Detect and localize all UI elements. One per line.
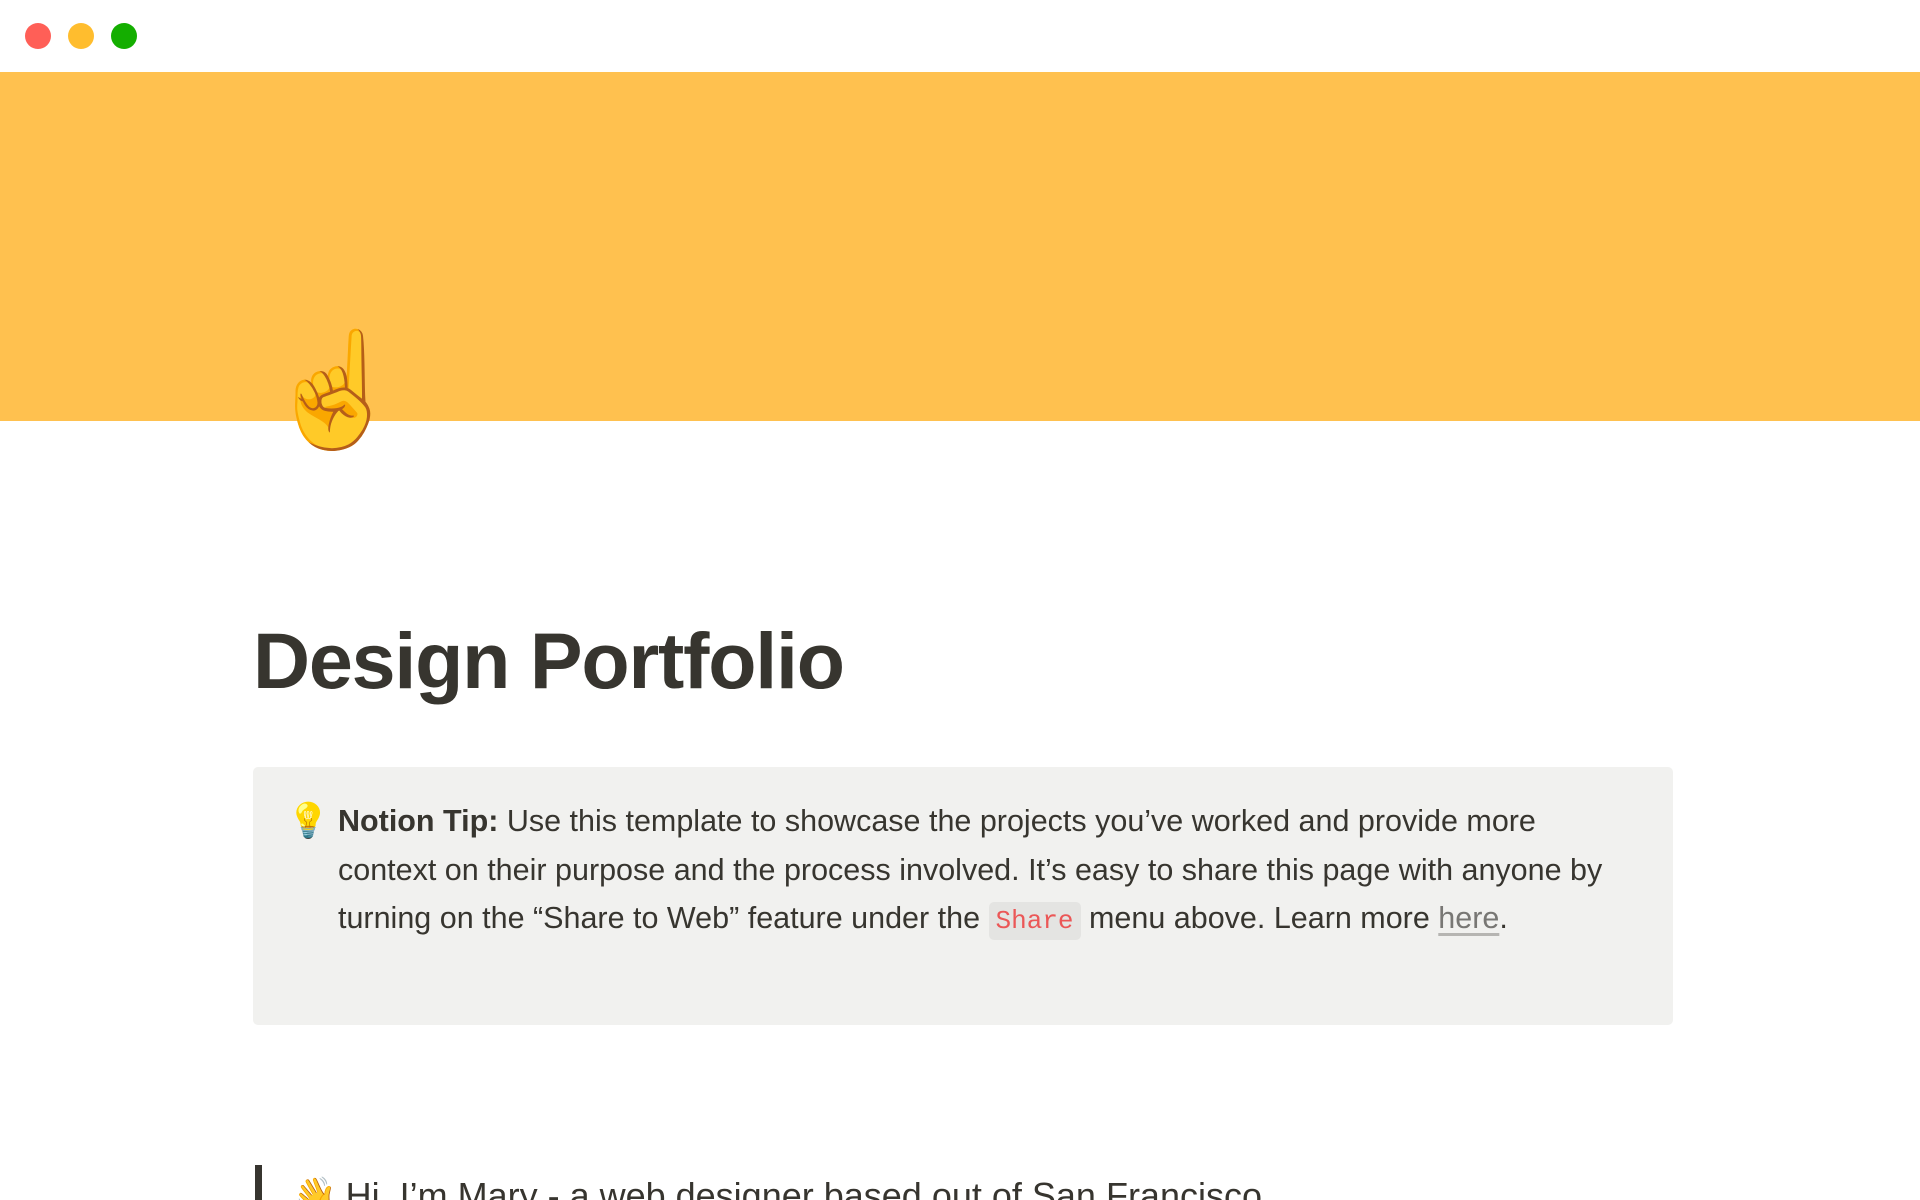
close-window-button[interactable] (25, 23, 51, 49)
callout-block[interactable]: 💡 Notion Tip: Use this template to showc… (253, 767, 1673, 1025)
window-titlebar (0, 0, 1920, 72)
callout-bold-label: Notion Tip: (338, 804, 498, 838)
page-icon-emoji[interactable]: ☝️ (265, 334, 404, 446)
callout-text: Notion Tip: Use this template to showcas… (333, 797, 1637, 946)
page-body: ☝️ Design Portfolio 💡 Notion Tip: Use th… (0, 72, 1920, 1200)
page-title[interactable]: Design Portfolio (253, 618, 844, 705)
window-controls (25, 23, 137, 49)
lightbulb-icon: 💡 (287, 797, 333, 845)
share-inline-code: Share (989, 902, 1081, 940)
waving-hand-icon: 👋 (293, 1179, 337, 1200)
maximize-window-button[interactable] (111, 23, 137, 49)
app-window: ☝️ Design Portfolio 💡 Notion Tip: Use th… (0, 0, 1920, 1200)
callout-paragraph-part-3: . (1499, 901, 1507, 935)
quote-text: Hi, I’m Mary - a web designer based out … (346, 1171, 1272, 1200)
minimize-window-button[interactable] (68, 23, 94, 49)
quote-block[interactable]: 👋 Hi, I’m Mary - a web designer based ou… (255, 1165, 1675, 1200)
here-link[interactable]: here (1438, 901, 1499, 935)
callout-paragraph-part-2: menu above. Learn more (1081, 901, 1439, 935)
